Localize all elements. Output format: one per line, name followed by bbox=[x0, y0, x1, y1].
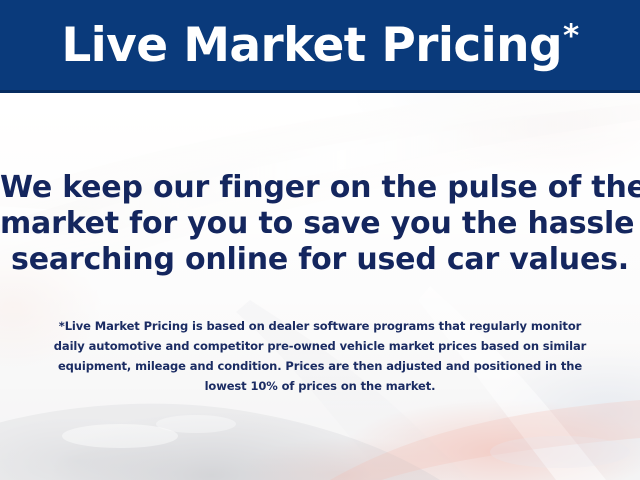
header-banner: Live Market Pricing* bbox=[0, 0, 640, 93]
headline: We keep our finger on the pulse of the m… bbox=[0, 170, 640, 278]
headline-line-2: market for you to save you the hassle of bbox=[0, 206, 640, 242]
banner-title-text: Live Market Pricing bbox=[61, 18, 562, 73]
fineprint-line-2: daily automotive and competitor pre-owne… bbox=[0, 336, 640, 356]
fineprint-line-3: equipment, mileage and condition. Prices… bbox=[0, 356, 640, 376]
fineprint-line-4: lowest 10% of prices on the market. bbox=[0, 376, 640, 396]
headline-line-1: We keep our finger on the pulse of the bbox=[0, 170, 640, 206]
banner-title: Live Market Pricing* bbox=[61, 22, 578, 69]
fineprint-disclaimer: *Live Market Pricing is based on dealer … bbox=[0, 316, 640, 396]
live-market-pricing-card: Live Market Pricing* We keep our finger … bbox=[0, 0, 640, 480]
fineprint-line-1: *Live Market Pricing is based on dealer … bbox=[0, 316, 640, 336]
banner-title-asterisk: * bbox=[563, 18, 579, 54]
headline-line-3: searching online for used car values. bbox=[0, 242, 640, 278]
